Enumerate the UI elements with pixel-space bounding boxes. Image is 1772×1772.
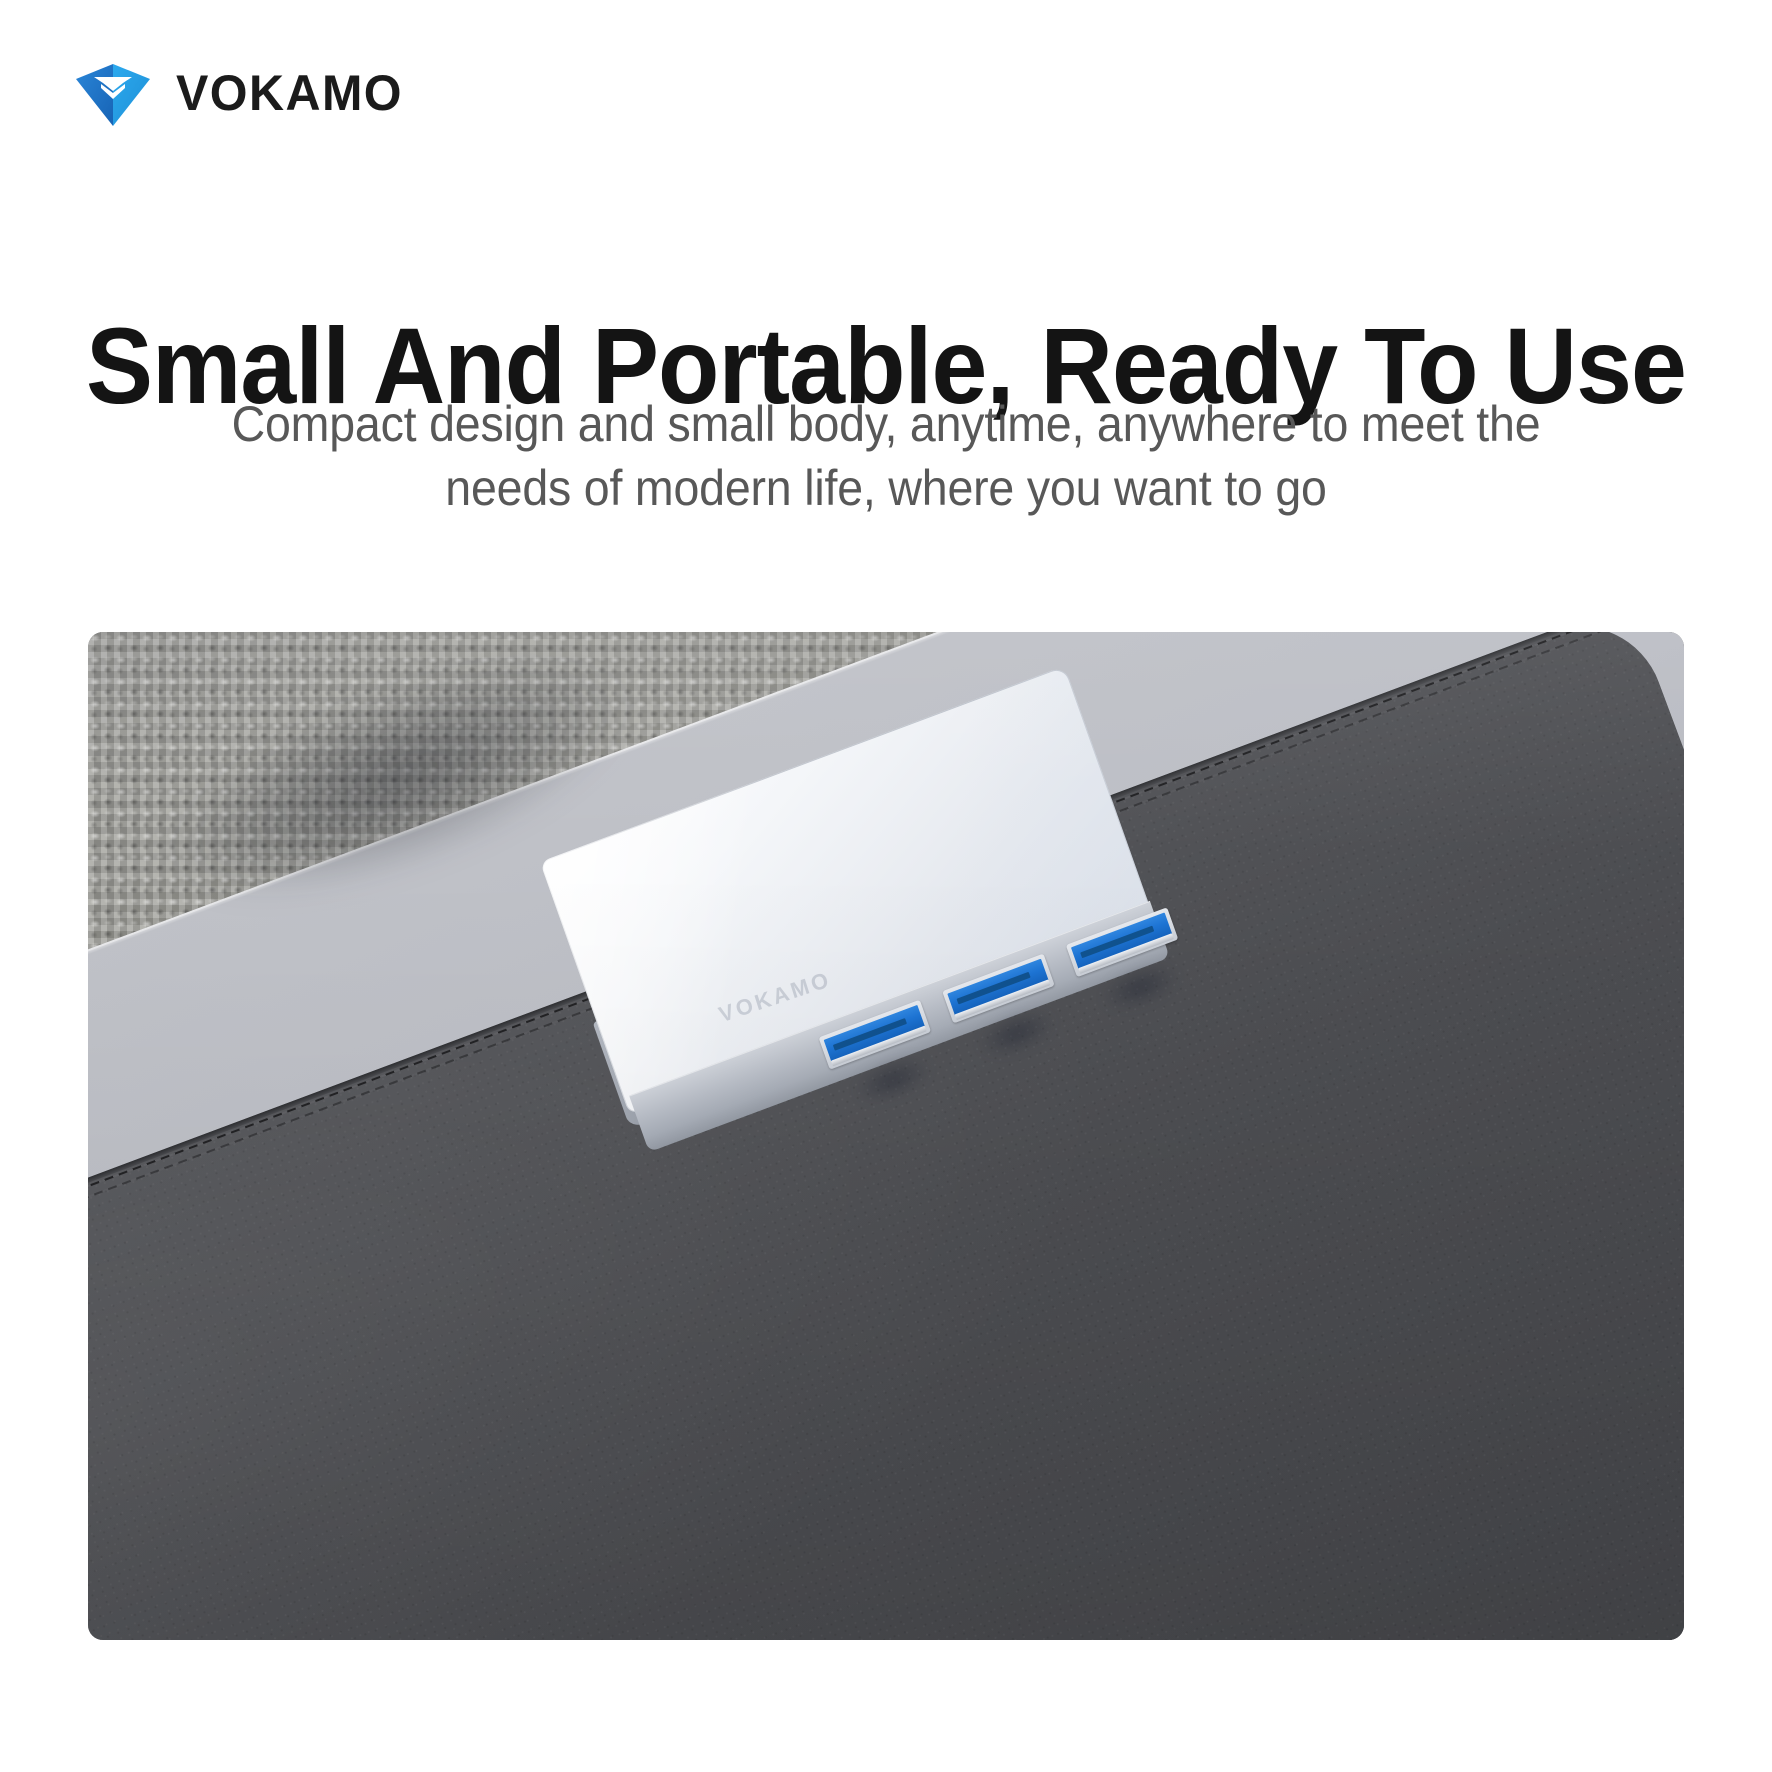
brand-logo: VOKAMO [72, 58, 410, 128]
brand-wordmark: VOKAMO [176, 68, 403, 118]
page-subtitle: Compact design and small body, anytime, … [62, 392, 1710, 520]
subtitle-line-1: Compact design and small body, anytime, … [62, 392, 1710, 456]
product-photo: VOKAMO [88, 632, 1684, 1640]
subtitle-line-2: needs of modern life, where you want to … [62, 456, 1710, 520]
hub-brand-engraving: VOKAMO [716, 966, 835, 1028]
diamond-heart-icon [72, 58, 154, 128]
